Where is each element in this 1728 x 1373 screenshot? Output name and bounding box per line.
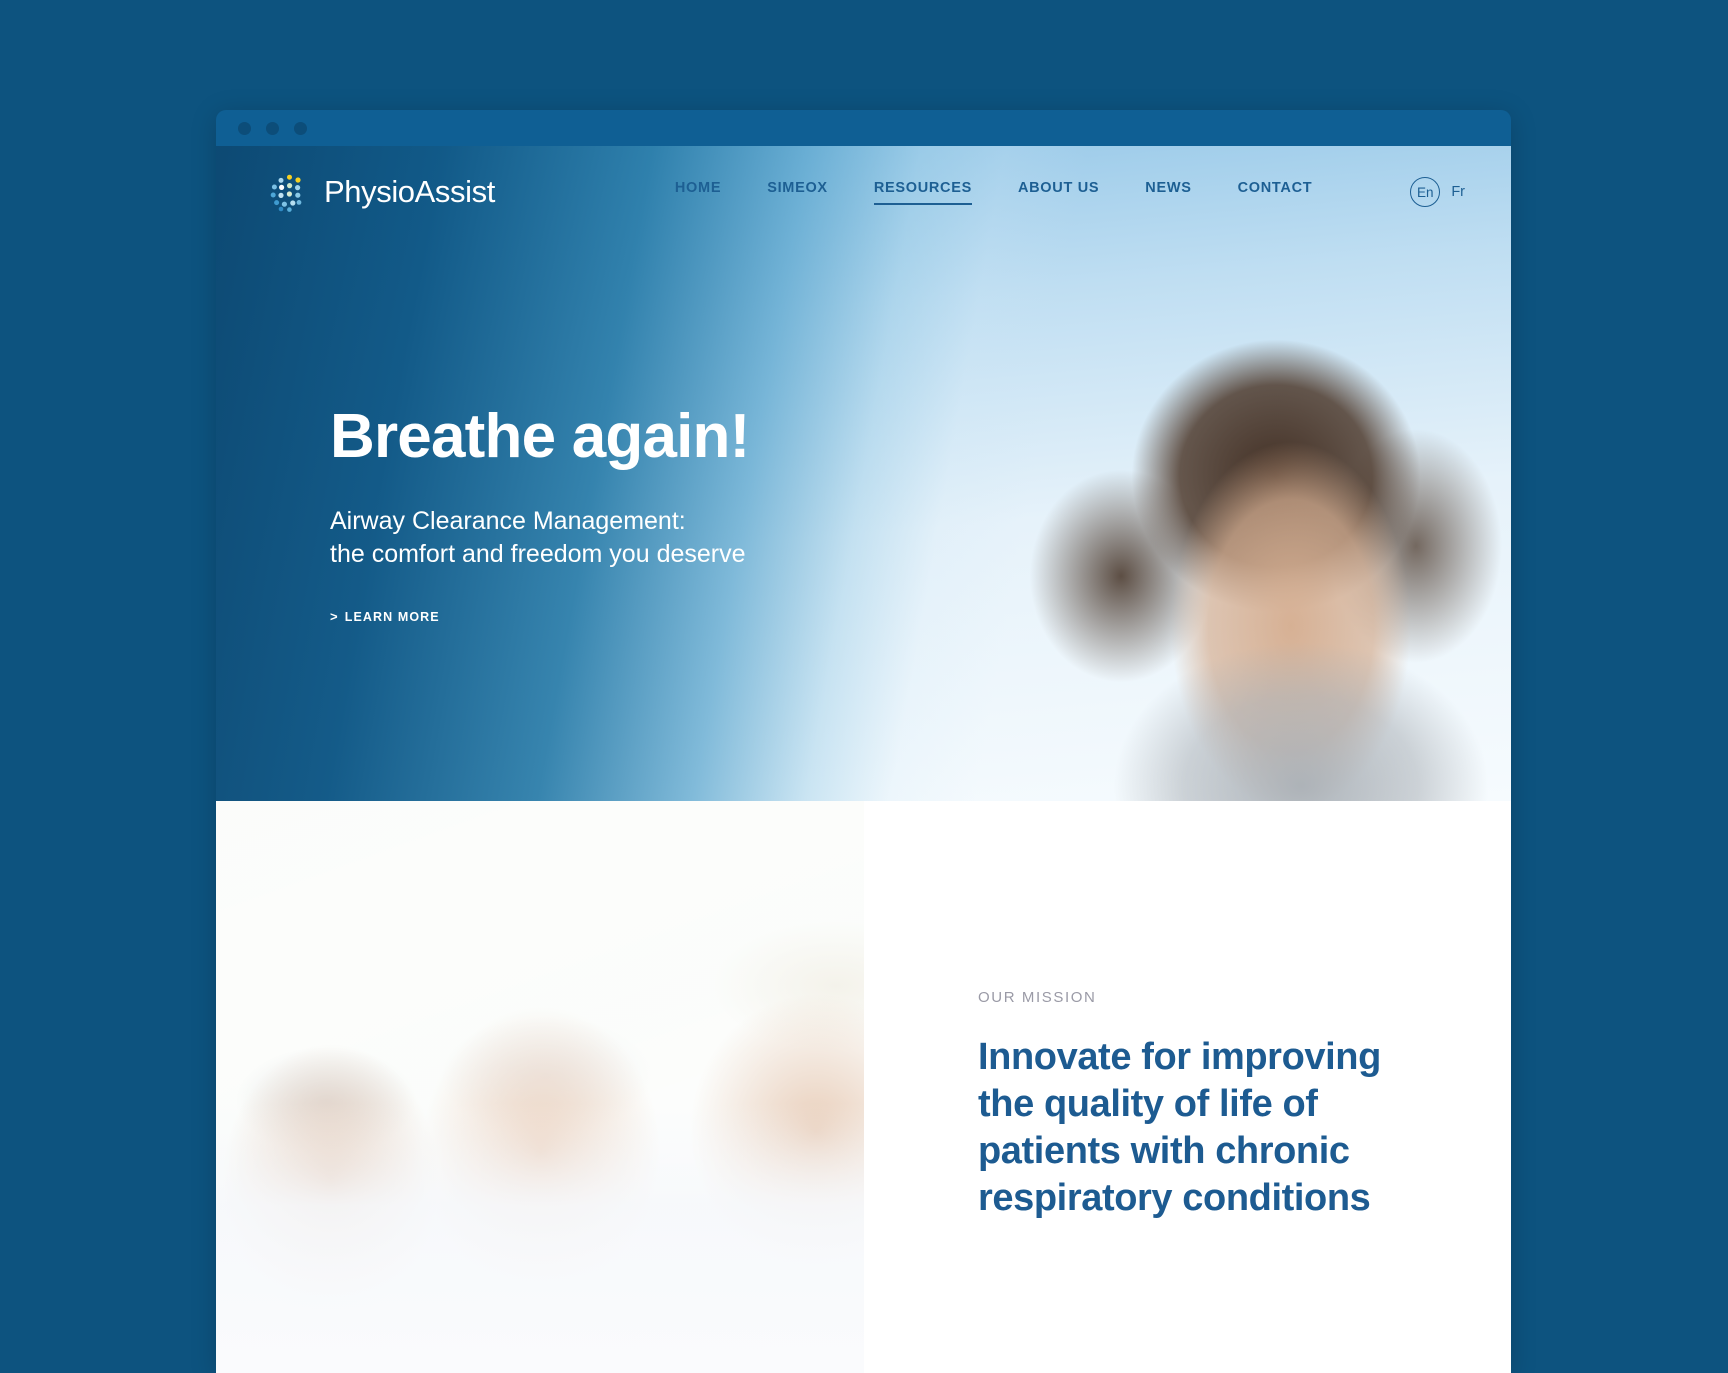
nav-item-contact[interactable]: CONTACT [1238,180,1313,205]
dot-circle-logo-icon [268,171,310,213]
hero-copy: Breathe again! Airway Clearance Manageme… [216,238,1511,626]
hero-learn-more-label: LEARN MORE [345,610,440,624]
minimize-dot-icon[interactable] [266,122,279,135]
language-switcher: En Fr [1410,177,1465,207]
nav-item-home[interactable]: HOME [675,180,721,205]
nav-item-news[interactable]: NEWS [1145,180,1191,205]
hero-title: Breathe again! [330,404,1511,469]
nav-links: HOME SIMEOX RESOURCES ABOUT US NEWS CONT… [675,177,1465,207]
nav-item-about-us[interactable]: ABOUT US [1018,180,1099,205]
chevron-right-icon: > [330,610,339,623]
mission-eyebrow: OUR MISSION [978,989,1511,1006]
brand-name: PhysioAssist [324,174,495,210]
mission-photo [216,801,864,1373]
hero-subtitle: Airway Clearance Management: the comfort… [330,505,1511,572]
mission-heading: Innovate for improving the quality of li… [978,1034,1438,1222]
hero-subtitle-line-1: Airway Clearance Management: [330,507,686,535]
language-option-en[interactable]: En [1410,177,1440,207]
page-viewport: PhysioAssist HOME SIMEOX RESOURCES ABOUT… [216,146,1511,1373]
hero-learn-more-link[interactable]: > LEARN MORE [330,610,440,624]
browser-titlebar [216,110,1511,146]
hero-subtitle-line-2: the comfort and freedom you deserve [330,540,746,568]
nav-item-simeox[interactable]: SIMEOX [767,180,828,205]
brand-logo[interactable]: PhysioAssist [268,171,495,213]
mission-text-block: OUR MISSION Innovate for improving the q… [864,801,1511,1373]
close-dot-icon[interactable] [238,122,251,135]
main-navbar: PhysioAssist HOME SIMEOX RESOURCES ABOUT… [216,146,1511,238]
maximize-dot-icon[interactable] [294,122,307,135]
nav-item-resources[interactable]: RESOURCES [874,180,972,205]
language-option-fr[interactable]: Fr [1451,184,1465,200]
browser-window: PhysioAssist HOME SIMEOX RESOURCES ABOUT… [216,110,1511,1373]
hero-section: PhysioAssist HOME SIMEOX RESOURCES ABOUT… [216,146,1511,801]
mission-section: OUR MISSION Innovate for improving the q… [216,801,1511,1373]
